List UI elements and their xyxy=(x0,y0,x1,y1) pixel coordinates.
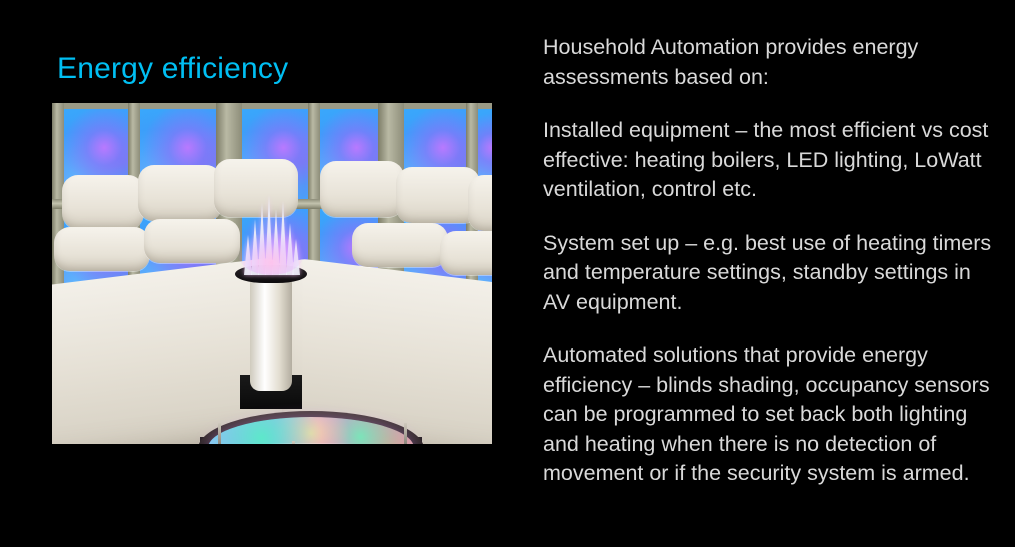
table-post xyxy=(404,423,407,444)
table-post xyxy=(292,441,295,444)
sofa-cushion xyxy=(440,231,492,275)
photo-canvas xyxy=(52,103,492,444)
sofa-cushion xyxy=(468,175,492,231)
sofa-cushion xyxy=(320,161,404,217)
presentation-slide: Energy efficiency xyxy=(0,0,1015,547)
sofa-cushion xyxy=(138,165,222,221)
table-post xyxy=(218,423,221,444)
sofa-cushion xyxy=(62,175,144,229)
sofa-cushion xyxy=(352,223,448,267)
paragraph-intro: Household Automation provides energy ass… xyxy=(543,33,995,92)
paragraph-system-setup: System set up – e.g. best use of heating… xyxy=(543,229,995,318)
lamp-glow xyxy=(238,233,304,275)
sofa-cushion xyxy=(54,227,150,271)
sofa-cushion xyxy=(144,219,240,263)
paragraph-automated-solutions: Automated solutions that provide energy … xyxy=(543,341,995,489)
pedestal-column xyxy=(250,279,292,391)
page-title: Energy efficiency xyxy=(57,51,288,87)
body-copy: Household Automation provides energy ass… xyxy=(543,33,995,489)
living-room-photo xyxy=(52,103,492,444)
paragraph-installed-equipment: Installed equipment – the most efficient… xyxy=(543,116,995,205)
